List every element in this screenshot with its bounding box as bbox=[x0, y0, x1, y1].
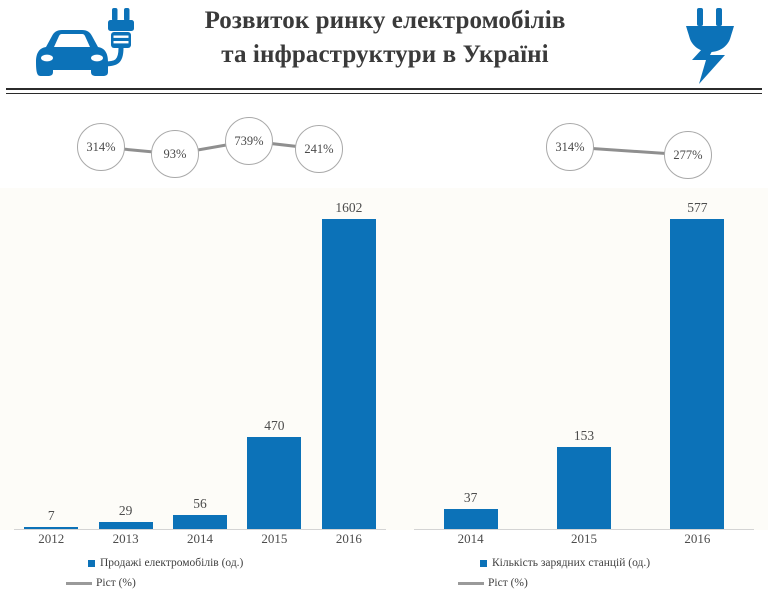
bar-item-2015: 470 bbox=[237, 188, 311, 529]
bar-value-2016: 1602 bbox=[335, 201, 362, 215]
plug-lightning-icon bbox=[668, 2, 752, 88]
category-label-2016: 2016 bbox=[312, 531, 386, 551]
legend-label-stations: Кількість зарядних станцій (од.) bbox=[492, 555, 650, 572]
bar-item-2014: 56 bbox=[163, 188, 237, 529]
bar-item-2015: 153 bbox=[527, 188, 640, 529]
bar-rect-2015[interactable] bbox=[247, 437, 301, 529]
bar-rect-2015[interactable] bbox=[557, 447, 611, 529]
growth-value-2014: 93% bbox=[164, 147, 187, 162]
growth-value-2013: 314% bbox=[86, 140, 115, 155]
bar-item-2016: 1602 bbox=[312, 188, 386, 529]
bar-value-2016: 577 bbox=[687, 201, 707, 215]
category-label-2015: 2015 bbox=[527, 531, 640, 551]
legend-square-icon bbox=[480, 560, 487, 567]
category-axis-line bbox=[14, 529, 386, 530]
bar-rect-2014[interactable] bbox=[444, 509, 498, 529]
category-axis-labels: 2012 2013 2014 2015 2016 bbox=[14, 531, 386, 551]
bar-rect-2016[interactable] bbox=[322, 219, 376, 529]
legend-label-sales: Продажі електромобілів (од.) bbox=[100, 555, 243, 572]
category-label-2012: 2012 bbox=[14, 531, 88, 551]
growth-connector-lines bbox=[400, 100, 768, 188]
chart-ev-sales: 314% 93% 739% 241% 7 29 56 bbox=[0, 100, 400, 605]
bar-value-2015: 470 bbox=[264, 419, 284, 433]
growth-bubble-2016: 277% bbox=[664, 131, 712, 179]
bar-group: 7 29 56 470 1602 bbox=[14, 188, 386, 529]
chart-charging-stations: 314% 277% 37 153 577 2014 2015 2016 bbox=[400, 100, 768, 605]
growth-connector-lines bbox=[0, 100, 400, 188]
bar-value-2013: 29 bbox=[119, 504, 133, 518]
growth-value-2015: 314% bbox=[555, 140, 584, 155]
category-label-2016: 2016 bbox=[641, 531, 754, 551]
growth-bubble-2015: 314% bbox=[546, 123, 594, 171]
bar-group: 37 153 577 bbox=[414, 188, 754, 529]
legend-item-sales[interactable]: Продажі електромобілів (од.) bbox=[0, 555, 400, 572]
title-line-2: та інфраструктури в Україні bbox=[150, 38, 620, 72]
electric-car-plug-icon bbox=[24, 6, 146, 86]
growth-bubble-series: 314% 277% bbox=[400, 100, 768, 188]
legend-label-growth: Ріст (%) bbox=[488, 575, 528, 592]
bar-rect-2014[interactable] bbox=[173, 515, 227, 529]
growth-bubble-2016: 241% bbox=[295, 125, 343, 173]
category-label-2013: 2013 bbox=[88, 531, 162, 551]
bar-plot-area: 37 153 577 bbox=[400, 188, 768, 530]
legend-line-icon bbox=[458, 582, 484, 585]
bar-value-2014: 37 bbox=[464, 491, 478, 505]
category-axis-line bbox=[414, 529, 754, 530]
header-banner: Розвиток ринку електромобілів та інфраст… bbox=[0, 0, 768, 88]
bar-item-2012: 7 bbox=[14, 188, 88, 529]
legend-label-growth: Ріст (%) bbox=[96, 575, 136, 592]
legend-item-growth[interactable]: Ріст (%) bbox=[0, 575, 400, 592]
category-label-2014: 2014 bbox=[163, 531, 237, 551]
growth-bubble-2014: 93% bbox=[151, 130, 199, 178]
growth-value-2016: 277% bbox=[673, 148, 702, 163]
category-label-2015: 2015 bbox=[237, 531, 311, 551]
page-title: Розвиток ринку електромобілів та інфраст… bbox=[150, 4, 620, 72]
legend-square-icon bbox=[88, 560, 95, 567]
category-label-2014: 2014 bbox=[414, 531, 527, 551]
legend-item-stations[interactable]: Кількість зарядних станцій (од.) bbox=[400, 555, 768, 572]
bar-plot-area: 7 29 56 470 1602 bbox=[0, 188, 400, 530]
growth-value-2016: 241% bbox=[304, 142, 333, 157]
category-axis-labels: 2014 2015 2016 bbox=[414, 531, 754, 551]
chart-legend: Кількість зарядних станцій (од.) Ріст (%… bbox=[400, 555, 768, 595]
title-line-1: Розвиток ринку електромобілів bbox=[150, 4, 620, 38]
growth-bubble-2013: 314% bbox=[77, 123, 125, 171]
bar-value-2012: 7 bbox=[48, 509, 55, 523]
header-divider-thin bbox=[6, 93, 762, 94]
bar-rect-2013[interactable] bbox=[99, 522, 153, 529]
bar-item-2016: 577 bbox=[641, 188, 754, 529]
chart-legend: Продажі електромобілів (од.) Ріст (%) bbox=[0, 555, 400, 595]
bar-item-2013: 29 bbox=[88, 188, 162, 529]
growth-bubble-series: 314% 93% 739% 241% bbox=[0, 100, 400, 188]
bar-value-2014: 56 bbox=[193, 497, 207, 511]
bar-item-2014: 37 bbox=[414, 188, 527, 529]
legend-item-growth[interactable]: Ріст (%) bbox=[400, 575, 768, 592]
bar-rect-2016[interactable] bbox=[670, 219, 724, 529]
growth-value-2015: 739% bbox=[234, 134, 263, 149]
bar-value-2015: 153 bbox=[574, 429, 594, 443]
growth-bubble-2015: 739% bbox=[225, 117, 273, 165]
legend-line-icon bbox=[66, 582, 92, 585]
header-divider-thick bbox=[6, 88, 762, 90]
